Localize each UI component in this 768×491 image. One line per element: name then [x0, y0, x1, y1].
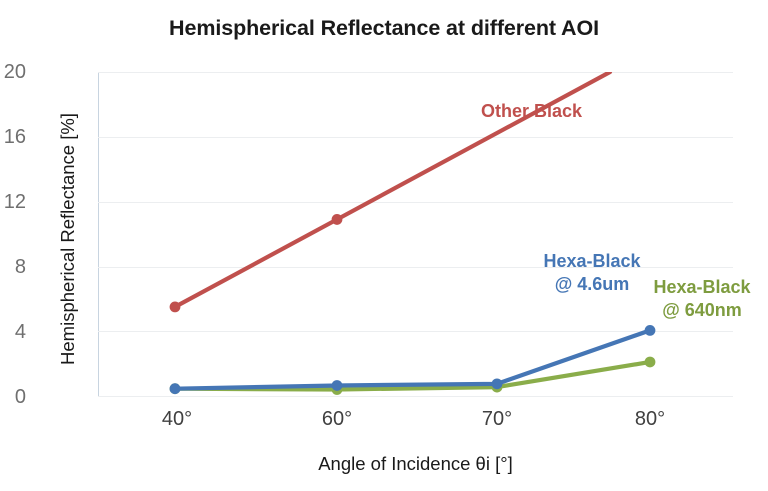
- x-axis-title: Angle of Incidence θi [°]: [98, 453, 733, 475]
- y-axis-tick-16: 16: [0, 127, 26, 147]
- y-axis-tick-20: 20: [0, 62, 26, 82]
- y-axis-tick-4: 4: [0, 322, 26, 342]
- chart-title: Hemispherical Reflectance at different A…: [0, 16, 768, 41]
- series-label-other-black: Other Black: [481, 100, 582, 123]
- x-axis-tick-70: 70°: [437, 409, 557, 429]
- chart-container: Hemispherical Reflectance at different A…: [0, 0, 768, 491]
- y-axis-tick-12: 12: [0, 192, 26, 212]
- y-axis-tick-0: 0: [0, 387, 26, 407]
- series-hexa-black-4.6um: [170, 325, 656, 394]
- y-axis-title: Hemispherical Reflectance [%]: [57, 74, 79, 404]
- gridline-0: [98, 396, 733, 397]
- series-plot: [98, 72, 733, 396]
- x-axis-tick-40: 40°: [117, 409, 237, 429]
- y-axis-tick-8: 8: [0, 257, 26, 277]
- x-axis-tick-80: 80°: [590, 409, 710, 429]
- plot-area: [98, 72, 733, 396]
- series-label-hexa-black-640nm: Hexa-Black @ 640nm: [637, 276, 767, 322]
- x-axis-tick-60: 60°: [277, 409, 397, 429]
